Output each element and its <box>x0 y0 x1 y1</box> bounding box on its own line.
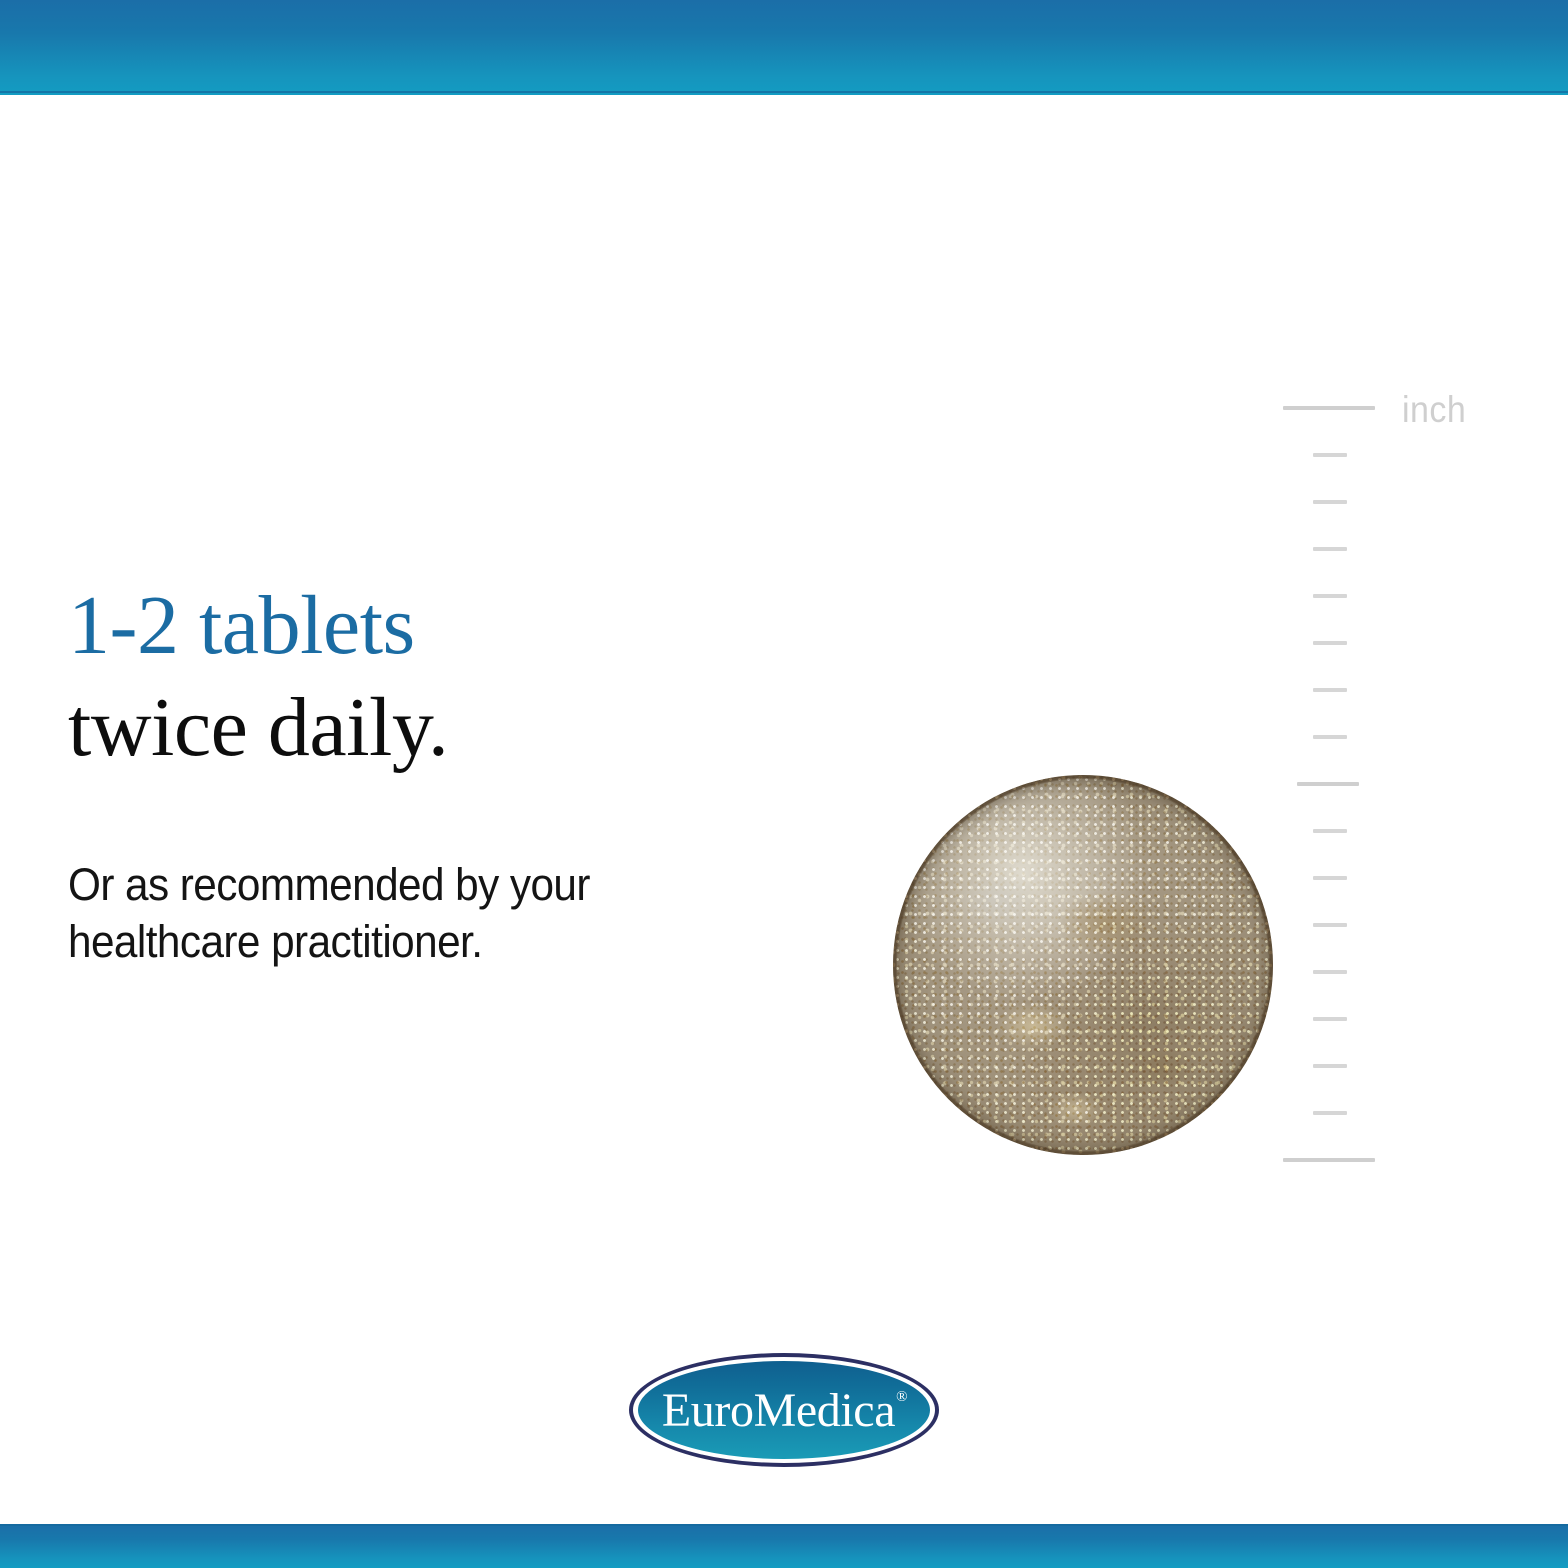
logo-wordmark: EuroMedica® <box>662 1381 906 1435</box>
ruler-tick-minor-9 <box>1313 829 1347 833</box>
ruler-tick-minor-13 <box>1313 1017 1347 1021</box>
product-dosage-card: 1-2 tablets twice daily. Or as recommend… <box>0 0 1568 1568</box>
tablet-rim <box>893 775 1273 1155</box>
ruler-tick-major-0 <box>1283 406 1375 410</box>
euromedica-logo: EuroMedica® <box>629 1353 939 1467</box>
bottom-accent-band <box>0 1524 1568 1568</box>
ruler-tick-minor-12 <box>1313 970 1347 974</box>
ruler-tick-major-16 <box>1283 1158 1375 1162</box>
tablet-photo <box>893 775 1273 1155</box>
ruler-tick-minor-15 <box>1313 1111 1347 1115</box>
ruler-tick-mid-8 <box>1297 782 1359 786</box>
top-accent-band <box>0 0 1568 95</box>
ruler-tick-minor-10 <box>1313 876 1347 880</box>
dosage-note: Or as recommended by your healthcare pra… <box>68 856 726 970</box>
tablet-image <box>893 775 1273 1155</box>
ruler-tick-minor-6 <box>1313 688 1347 692</box>
ruler-tick-minor-3 <box>1313 547 1347 551</box>
ruler-tick-minor-2 <box>1313 500 1347 504</box>
top-band-hairline <box>0 91 1568 93</box>
headline-accent-line: 1-2 tablets <box>68 575 828 677</box>
ruler-tick-minor-1 <box>1313 453 1347 457</box>
ruler-tick-minor-11 <box>1313 923 1347 927</box>
ruler-tick-minor-4 <box>1313 594 1347 598</box>
bottom-band-hairline <box>0 1524 1568 1526</box>
ruler-tick-minor-14 <box>1313 1064 1347 1068</box>
ruler-tick-minor-5 <box>1313 641 1347 645</box>
inch-ruler: inch <box>1283 395 1568 1185</box>
logo-brand-text: EuroMedica <box>662 1384 895 1437</box>
page-title: 1-2 tablets twice daily. <box>68 575 828 779</box>
ruler-unit-label: inch <box>1402 391 1466 428</box>
headline-plain-line: twice daily. <box>68 677 828 779</box>
registered-trademark-icon: ® <box>896 1389 907 1405</box>
logo-fill: EuroMedica® <box>638 1361 930 1459</box>
ruler-tick-minor-7 <box>1313 735 1347 739</box>
headline-block: 1-2 tablets twice daily. <box>68 575 828 779</box>
